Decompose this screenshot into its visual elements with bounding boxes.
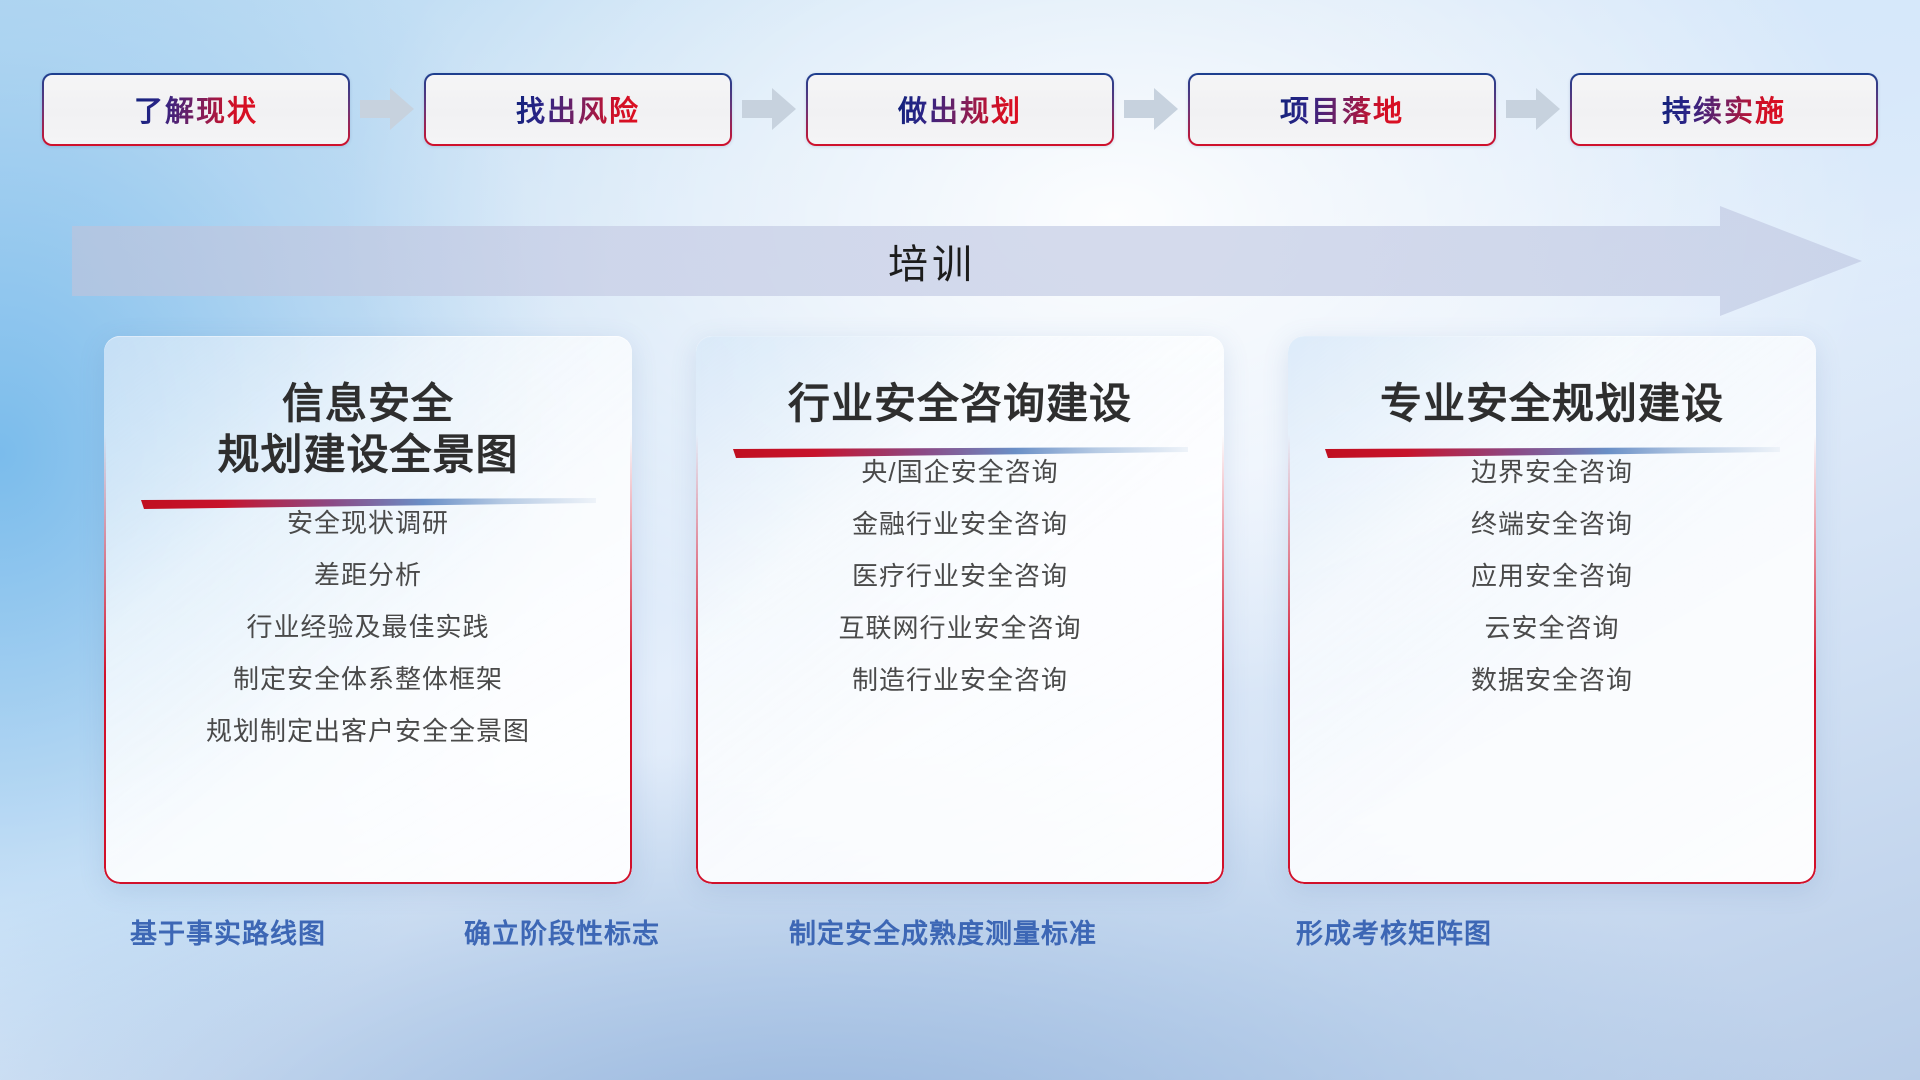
right-block-arrow-icon — [741, 83, 797, 135]
card-body: 专业安全规划建设 — [1288, 336, 1816, 884]
list-item: 医疗行业安全咨询 — [726, 563, 1194, 589]
cards-row: 信息安全 规划建设全景图 — [0, 336, 1920, 888]
caption-assessment-matrix: 形成考核矩阵图 — [1296, 912, 1492, 951]
list-item: 央/国企安全咨询 — [726, 459, 1194, 485]
flow-step-3-inner: 做出规划 — [808, 75, 1112, 144]
flow-step-4[interactable]: 项目落地 — [1188, 73, 1496, 146]
list-item: 行业经验及最佳实践 — [134, 614, 602, 640]
process-flow-row: 了解现状 找出风险 做出规划 — [0, 68, 1920, 150]
flow-step-3-label: 做出规划 — [898, 88, 1022, 130]
list-item: 应用安全咨询 — [1318, 563, 1786, 589]
flow-step-1[interactable]: 了解现状 — [42, 73, 350, 146]
card-item-list: 安全现状调研 差距分析 行业经验及最佳实践 制定安全体系整体框架 规划制定出客户… — [134, 510, 602, 744]
flow-step-5-label: 持续实施 — [1662, 88, 1786, 130]
card-title: 信息安全 规划建设全景图 — [134, 378, 602, 480]
right-block-arrow-icon — [1123, 83, 1179, 135]
flow-step-3[interactable]: 做出规划 — [806, 73, 1114, 146]
training-banner: 培训 — [72, 206, 1862, 316]
caption-row: 基于事实路线图 确立阶段性标志 制定安全成熟度测量标准 形成考核矩阵图 — [0, 912, 1920, 966]
flow-step-2-label: 找出风险 — [516, 88, 640, 130]
flow-step-1-label: 了解现状 — [134, 88, 258, 130]
caption-roadmap: 基于事实路线图 — [130, 912, 326, 951]
card-title: 专业安全规划建设 — [1318, 378, 1786, 429]
list-item: 边界安全咨询 — [1318, 459, 1786, 485]
card-info-security-panorama[interactable]: 信息安全 规划建设全景图 — [104, 336, 632, 884]
list-item: 差距分析 — [134, 562, 602, 588]
list-item: 规划制定出客户安全全景图 — [134, 718, 602, 744]
right-block-arrow-icon — [1505, 83, 1561, 135]
flow-step-1-inner: 了解现状 — [44, 75, 348, 144]
list-item: 互联网行业安全咨询 — [726, 615, 1194, 641]
card-industry-security-consulting[interactable]: 行业安全咨询建设 — [696, 336, 1224, 884]
list-item: 云安全咨询 — [1318, 615, 1786, 641]
slide-canvas: 了解现状 找出风险 做出规划 — [0, 0, 1920, 1080]
flow-step-2-inner: 找出风险 — [426, 75, 730, 144]
flow-step-5-inner: 持续实施 — [1572, 75, 1876, 144]
caption-maturity-standard: 制定安全成熟度测量标准 — [789, 912, 1097, 951]
list-item: 制定安全体系整体框架 — [134, 666, 602, 692]
card-item-list: 边界安全咨询 终端安全咨询 应用安全咨询 云安全咨询 数据安全咨询 — [1318, 459, 1786, 693]
card-professional-security-planning[interactable]: 专业安全规划建设 — [1288, 336, 1816, 884]
list-item: 终端安全咨询 — [1318, 511, 1786, 537]
right-block-arrow-icon — [359, 83, 415, 135]
training-banner-label: 培训 — [72, 206, 1792, 316]
card-body: 信息安全 规划建设全景图 — [104, 336, 632, 884]
list-item: 金融行业安全咨询 — [726, 511, 1194, 537]
flow-step-4-inner: 项目落地 — [1190, 75, 1494, 144]
list-item: 制造行业安全咨询 — [726, 667, 1194, 693]
list-item: 数据安全咨询 — [1318, 667, 1786, 693]
flow-step-4-label: 项目落地 — [1280, 88, 1404, 130]
card-title: 行业安全咨询建设 — [726, 378, 1194, 429]
flow-step-2[interactable]: 找出风险 — [424, 73, 732, 146]
flow-step-5[interactable]: 持续实施 — [1570, 73, 1878, 146]
card-body: 行业安全咨询建设 — [696, 336, 1224, 884]
list-item: 安全现状调研 — [134, 510, 602, 536]
card-item-list: 央/国企安全咨询 金融行业安全咨询 医疗行业安全咨询 互联网行业安全咨询 制造行… — [726, 459, 1194, 693]
caption-milestones: 确立阶段性标志 — [464, 912, 660, 951]
